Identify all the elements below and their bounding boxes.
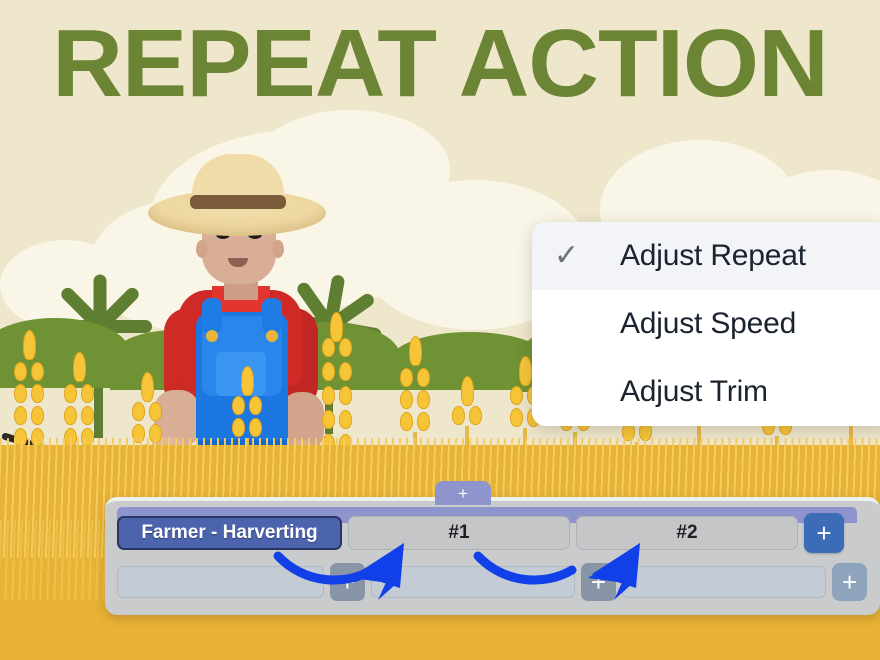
empty-slot-2[interactable] xyxy=(371,566,575,598)
add-slot-button-1[interactable]: + xyxy=(330,563,365,601)
timeline-panel: + Farmer - Harverting #1 #2 + + + xyxy=(105,497,880,615)
wheat-grain xyxy=(322,386,335,405)
add-slot-button-2[interactable]: + xyxy=(581,563,616,601)
wheat-grain xyxy=(409,336,422,366)
plus-icon: + xyxy=(816,520,831,546)
checkmark-icon: ✓ xyxy=(554,241,620,271)
empty-slot-3[interactable] xyxy=(622,566,826,598)
plus-icon: + xyxy=(842,569,857,595)
wheat-grain xyxy=(241,366,254,396)
page-title: REPEAT ACTION xyxy=(0,14,880,115)
wheat-grain xyxy=(339,410,352,429)
wheat-grain xyxy=(519,356,532,386)
menu-item-label: Adjust Repeat xyxy=(620,239,806,273)
wheat-grain xyxy=(322,410,335,429)
clip-chip-farmer-harverting[interactable]: Farmer - Harverting xyxy=(117,516,342,550)
slot-row: + + + xyxy=(117,563,867,601)
wheat-grain xyxy=(339,362,352,381)
menu-item-label: Adjust Trim xyxy=(620,375,768,409)
overalls-button-right xyxy=(266,330,278,342)
add-clip-button[interactable]: + xyxy=(804,513,844,553)
add-row-button[interactable]: + xyxy=(832,563,867,601)
farmer-strap-left xyxy=(202,298,222,334)
wheat-grain xyxy=(339,338,352,357)
farmer-ear-right xyxy=(272,240,284,258)
clip-chip-label: Farmer - Harverting xyxy=(141,522,317,544)
add-track-tab[interactable]: + xyxy=(435,481,491,505)
straw-hat-band xyxy=(190,195,286,209)
clip-row: Farmer - Harverting #1 #2 + xyxy=(117,515,867,551)
add-track-tab-label: + xyxy=(458,485,468,502)
farmer-strap-right xyxy=(262,298,282,334)
overalls-button-left xyxy=(206,330,218,342)
wheat-grain xyxy=(141,372,154,402)
menu-item-adjust-repeat[interactable]: ✓ Adjust Repeat xyxy=(532,222,880,290)
plus-icon: + xyxy=(591,569,606,595)
menu-item-adjust-speed[interactable]: Adjust Speed xyxy=(532,290,880,358)
wheat-grain xyxy=(330,312,343,342)
empty-slot-1[interactable] xyxy=(117,566,324,598)
menu-item-adjust-trim[interactable]: Adjust Trim xyxy=(532,358,880,426)
wheat-grain xyxy=(322,362,335,381)
action-options-menu[interactable]: ✓ Adjust Repeat Adjust Speed Adjust Trim xyxy=(532,222,880,426)
plus-icon: + xyxy=(340,569,355,595)
farmer-ear-left xyxy=(196,240,208,258)
wheat-grain xyxy=(73,352,86,382)
menu-item-label: Adjust Speed xyxy=(620,307,796,341)
clip-chip-1[interactable]: #1 xyxy=(348,516,570,550)
wheat-grain xyxy=(322,338,335,357)
clip-chip-2[interactable]: #2 xyxy=(576,516,798,550)
clip-chip-label: #1 xyxy=(448,522,469,544)
clip-chip-label: #2 xyxy=(676,522,697,544)
wheat-grain xyxy=(339,386,352,405)
wheat-grain xyxy=(23,330,36,360)
wheat-grain xyxy=(461,376,474,406)
screenshot-root: REPEAT ACTION ✓ Adjust Repeat Adjust Spe… xyxy=(0,0,880,660)
